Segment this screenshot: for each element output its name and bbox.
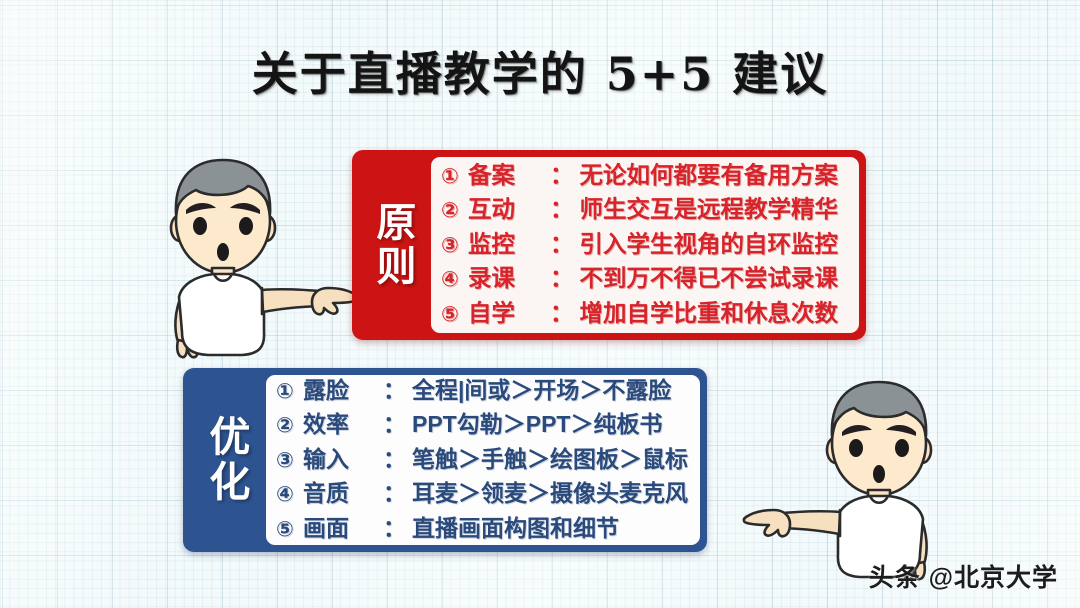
item-value: 增加自学比重和休息次数 — [580, 297, 839, 331]
item-number: ② — [441, 194, 468, 228]
item-separator: ： — [383, 374, 406, 407]
panel-optimization: 优化 ① 露脸 ： 全程|间或＞开场＞不露脸 ② 效率 ： PPT勾勒＞PPT＞… — [183, 368, 707, 552]
item-number: ① — [276, 376, 303, 409]
item-key: 效率 — [303, 408, 383, 441]
list-item: ④ 录课 ： 不到万不得已不尝试录课 — [441, 262, 851, 297]
item-key: 输入 — [303, 443, 383, 476]
item-value: 师生交互是远程教学精华 — [580, 193, 839, 227]
item-key: 录课 — [468, 262, 550, 296]
item-number: ① — [441, 160, 468, 194]
cartoon-character-left — [152, 142, 367, 362]
item-number: ② — [276, 410, 303, 443]
item-value: 引入学生视角的自环监控 — [580, 228, 839, 262]
item-separator: ： — [550, 193, 574, 227]
item-separator: ： — [383, 443, 406, 476]
item-number: ③ — [441, 229, 468, 263]
item-number: ④ — [441, 263, 468, 297]
list-item: ① 露脸 ： 全程|间或＞开场＞不露脸 — [276, 374, 692, 409]
item-separator: ： — [550, 159, 574, 193]
list-item: ② 互动 ： 师生交互是远程教学精华 — [441, 193, 851, 228]
item-separator: ： — [383, 512, 406, 545]
item-value: 耳麦＞领麦＞摄像头麦克风 — [412, 477, 688, 510]
item-value: PPT勾勒＞PPT＞纯板书 — [412, 408, 662, 441]
item-number: ⑤ — [441, 298, 468, 332]
item-separator: ： — [550, 228, 574, 262]
item-separator: ： — [383, 477, 406, 510]
list-item: ③ 输入 ： 笔触＞手触＞绘图板＞鼠标 — [276, 443, 692, 478]
item-separator: ： — [383, 408, 406, 441]
cartoon-man-pointing-left-icon — [735, 363, 950, 585]
panel-principles-sheet: ① 备案 ： 无论如何都要有备用方案 ② 互动 ： 师生交互是远程教学精华 ③ … — [431, 157, 859, 333]
list-item: ④ 音质 ： 耳麦＞领麦＞摄像头麦克风 — [276, 477, 692, 512]
item-key: 自学 — [468, 297, 550, 331]
list-item: ⑤ 自学 ： 增加自学比重和休息次数 — [441, 297, 851, 332]
item-key: 监控 — [468, 228, 550, 262]
item-separator: ： — [550, 262, 574, 296]
item-key: 互动 — [468, 193, 550, 227]
item-value: 直播画面构图和细节 — [412, 512, 619, 545]
list-item: ③ 监控 ： 引入学生视角的自环监控 — [441, 228, 851, 263]
panel-optimization-sheet: ① 露脸 ： 全程|间或＞开场＞不露脸 ② 效率 ： PPT勾勒＞PPT＞纯板书… — [266, 375, 700, 545]
cartoon-character-right — [735, 363, 950, 585]
item-value: 笔触＞手触＞绘图板＞鼠标 — [412, 443, 688, 476]
cartoon-man-pointing-right-icon — [152, 142, 367, 362]
slide-canvas: 关于直播教学的 5+5 建议 — [0, 0, 1080, 608]
item-value: 不到万不得已不尝试录课 — [580, 262, 839, 296]
item-key: 画面 — [303, 512, 383, 545]
item-separator: ： — [550, 297, 574, 331]
watermark-text: 头条 @北京大学 — [869, 558, 1058, 594]
item-number: ⑤ — [276, 514, 303, 547]
list-item: ② 效率 ： PPT勾勒＞PPT＞纯板书 — [276, 408, 692, 443]
item-value: 无论如何都要有备用方案 — [580, 159, 839, 193]
item-value: 全程|间或＞开场＞不露脸 — [412, 374, 671, 407]
panel-optimization-tag: 优化 — [190, 375, 260, 545]
list-item: ① 备案 ： 无论如何都要有备用方案 — [441, 159, 851, 194]
item-key: 备案 — [468, 159, 550, 193]
item-key: 露脸 — [303, 374, 383, 407]
list-item: ⑤ 画面 ： 直播画面构图和细节 — [276, 512, 692, 547]
page-title: 关于直播教学的 5+5 建议 — [0, 38, 1080, 104]
panel-principles-tag: 原则 — [359, 157, 425, 333]
panel-principles: 原则 ① 备案 ： 无论如何都要有备用方案 ② 互动 ： 师生交互是远程教学精华… — [352, 150, 866, 340]
item-number: ③ — [276, 445, 303, 478]
item-number: ④ — [276, 479, 303, 512]
item-key: 音质 — [303, 477, 383, 510]
